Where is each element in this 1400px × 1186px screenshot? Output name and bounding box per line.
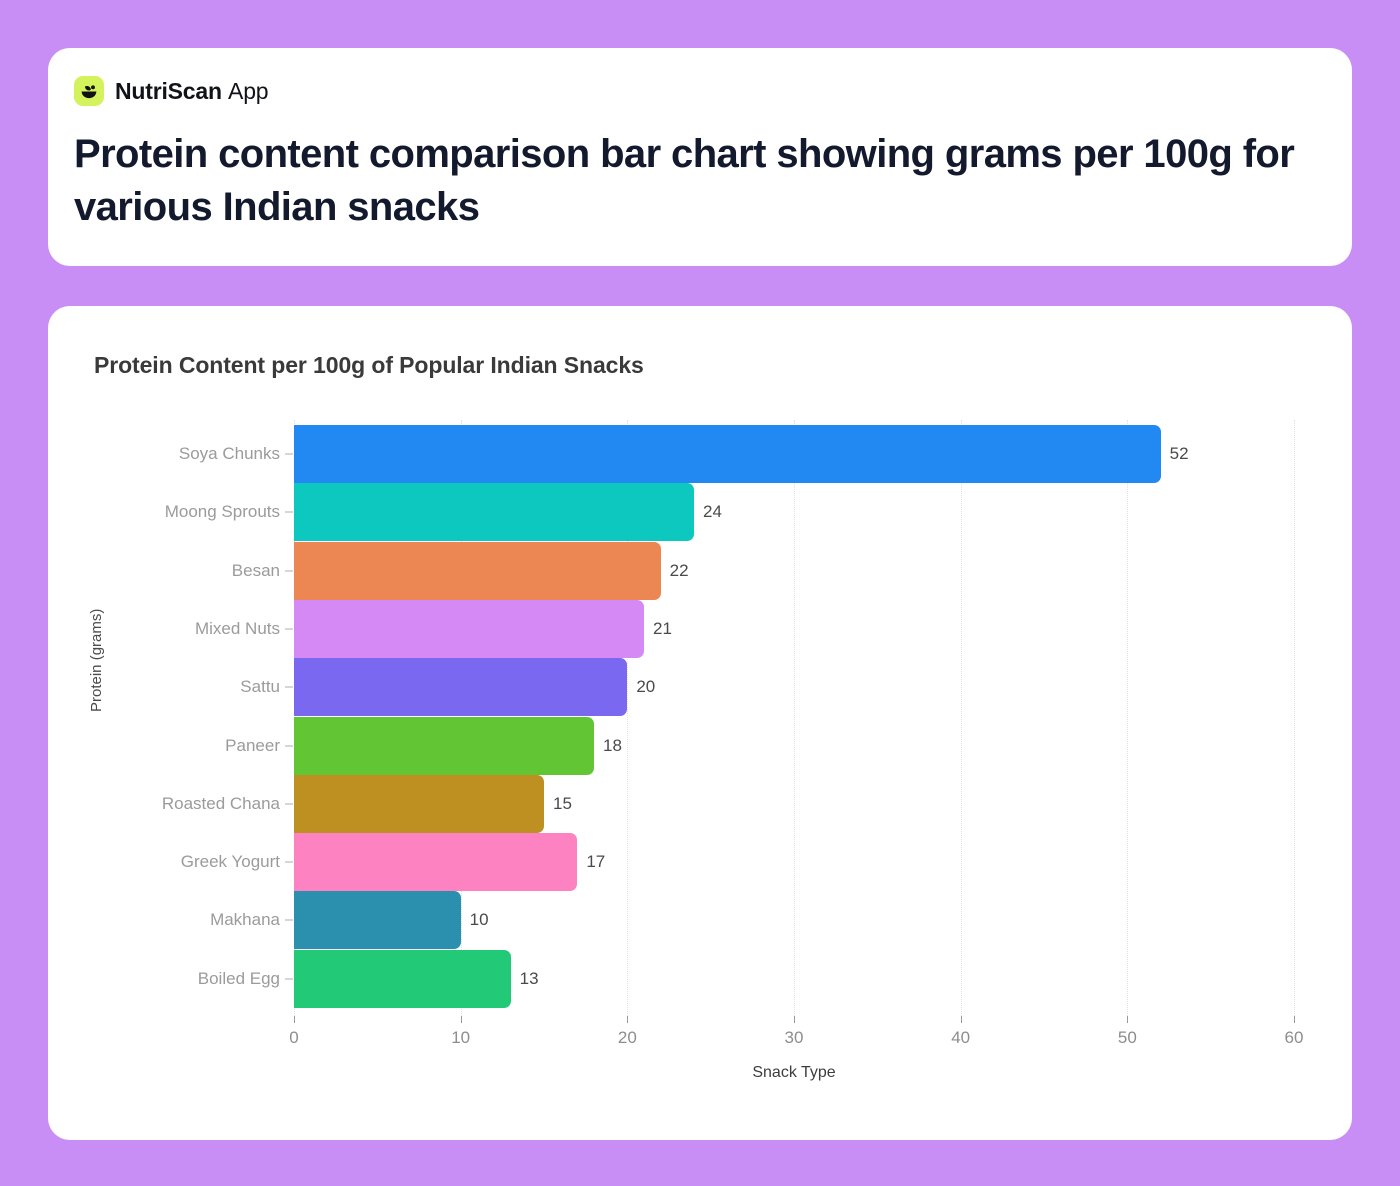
header-card: NutriScan App Protein content comparison… (48, 48, 1352, 266)
x-axis-tick-label: 40 (951, 1028, 970, 1048)
x-axis-tick-label: 30 (785, 1028, 804, 1048)
bar-value-label: 10 (470, 910, 489, 930)
y-axis-category-label: Mixed Nuts (195, 619, 280, 639)
x-axis-tick-label: 10 (451, 1028, 470, 1048)
x-axis-tick-label: 20 (618, 1028, 637, 1048)
x-axis-title: Snack Type (294, 1064, 1294, 1082)
brand-name: NutriScan App (115, 78, 268, 105)
bar-value-label: 22 (670, 561, 689, 581)
y-axis-category-label: Sattu (240, 677, 280, 697)
y-axis-tick (285, 862, 293, 863)
y-axis-category-label: Moong Sprouts (165, 502, 280, 522)
y-axis-tick (285, 628, 293, 629)
chart-bar-row[interactable]: Moong Sprouts24 (294, 483, 1294, 541)
leaf-bowl-icon (74, 76, 104, 106)
bar-value-label: 18 (603, 736, 622, 756)
brand-name-strong: NutriScan (115, 78, 222, 104)
chart-bar[interactable] (294, 483, 694, 541)
y-axis-category-label: Roasted Chana (162, 794, 280, 814)
chart-bar[interactable] (294, 600, 644, 658)
chart-bar[interactable] (294, 658, 627, 716)
x-axis-tick (461, 1016, 462, 1023)
chart-bar[interactable] (294, 425, 1161, 483)
chart-figure: Protein (grams) Soya Chunks52Moong Sprou… (48, 306, 1352, 1140)
chart-bar[interactable] (294, 775, 544, 833)
chart-bar-row[interactable]: Boiled Egg13 (294, 950, 1294, 1008)
chart-bar[interactable] (294, 542, 661, 600)
page-title: Protein content comparison bar chart sho… (74, 128, 1304, 234)
x-axis-tick (961, 1016, 962, 1023)
x-axis-tick (794, 1016, 795, 1023)
y-axis-tick (285, 454, 293, 455)
y-axis-category-label: Besan (232, 561, 280, 581)
chart-bar-row[interactable]: Greek Yogurt17 (294, 833, 1294, 891)
x-axis-tick (627, 1016, 628, 1023)
bar-value-label: 17 (586, 852, 605, 872)
chart-bar-row[interactable]: Paneer18 (294, 717, 1294, 775)
y-axis-category-label: Paneer (225, 736, 280, 756)
chart-bar-row[interactable]: Sattu20 (294, 658, 1294, 716)
x-axis-tick (294, 1016, 295, 1023)
y-axis-tick (285, 687, 293, 688)
y-axis-category-label: Soya Chunks (179, 444, 280, 464)
x-axis-tick-label: 60 (1285, 1028, 1304, 1048)
y-axis-category-label: Boiled Egg (198, 969, 280, 989)
bar-value-label: 24 (703, 502, 722, 522)
plot-area: Soya Chunks52Moong Sprouts24Besan22Mixed… (294, 420, 1294, 1016)
chart-bar-row[interactable]: Mixed Nuts21 (294, 600, 1294, 658)
y-axis-tick (285, 745, 293, 746)
y-axis-tick (285, 803, 293, 804)
bar-value-label: 13 (520, 969, 539, 989)
y-axis-tick (285, 512, 293, 513)
y-axis-tick (285, 570, 293, 571)
x-axis: 0102030405060 (294, 1016, 1294, 1017)
chart-bar-row[interactable]: Soya Chunks52 (294, 425, 1294, 483)
y-axis-category-label: Makhana (210, 910, 280, 930)
brand-name-light: App (228, 78, 268, 104)
x-axis-tick (1127, 1016, 1128, 1023)
y-axis-tick (285, 920, 293, 921)
y-axis-title: Protein (grams) (88, 692, 105, 712)
x-axis-tick (1294, 1016, 1295, 1023)
chart-bar-row[interactable]: Roasted Chana15 (294, 775, 1294, 833)
x-axis-tick-label: 0 (289, 1028, 298, 1048)
bar-value-label: 20 (636, 677, 655, 697)
chart-bar[interactable] (294, 950, 511, 1008)
y-axis-category-label: Greek Yogurt (181, 852, 280, 872)
bar-value-label: 15 (553, 794, 572, 814)
chart-bar[interactable] (294, 833, 577, 891)
bar-value-label: 21 (653, 619, 672, 639)
chart-bar-row[interactable]: Besan22 (294, 542, 1294, 600)
grid-line (1294, 420, 1295, 1016)
chart-bar[interactable] (294, 717, 594, 775)
y-axis-tick (285, 978, 293, 979)
chart-bar-row[interactable]: Makhana10 (294, 891, 1294, 949)
x-axis-tick-label: 50 (1118, 1028, 1137, 1048)
chart-bar[interactable] (294, 891, 461, 949)
screenshot-root: NutriScan App Protein content comparison… (0, 0, 1400, 1186)
chart-card: Protein Content per 100g of Popular Indi… (48, 306, 1352, 1140)
bar-value-label: 52 (1170, 444, 1189, 464)
brand: NutriScan App (74, 74, 1326, 108)
